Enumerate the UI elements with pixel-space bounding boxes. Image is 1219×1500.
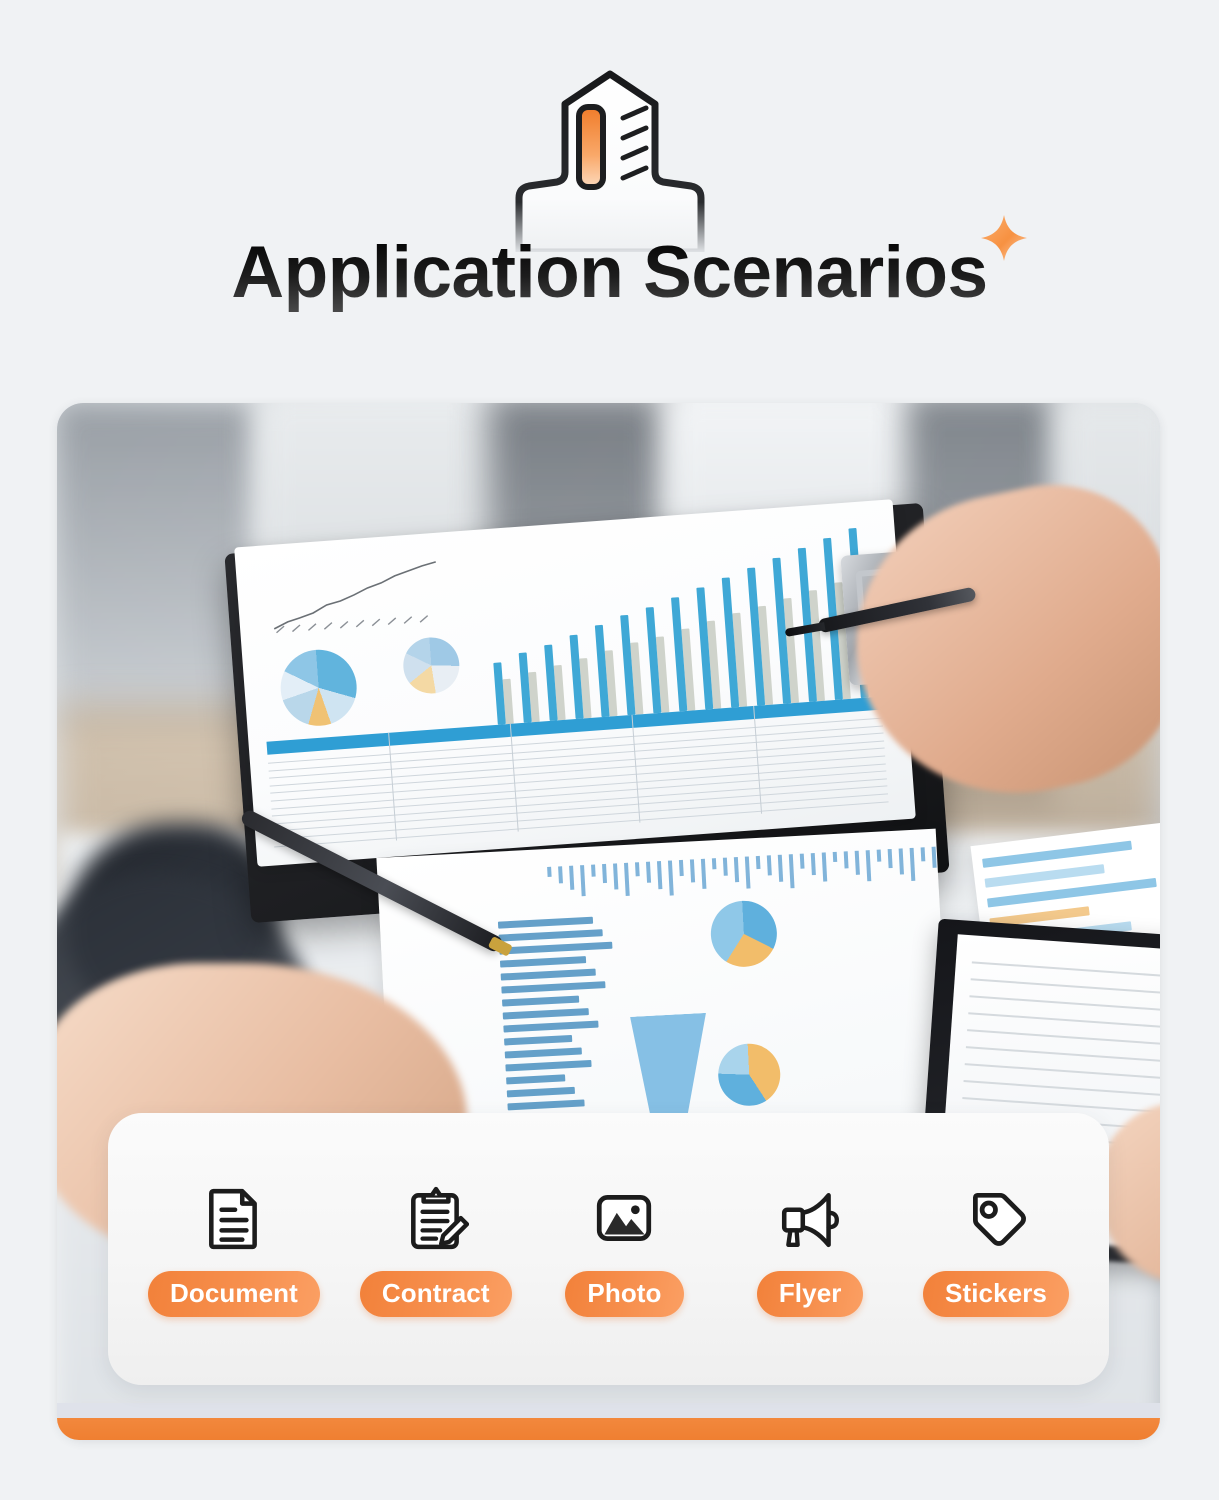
price-tag-icon [959,1181,1033,1255]
page-title-row: Application Scenarios [0,236,1219,309]
application-scenarios-page: Application Scenarios [0,0,1219,1500]
image-icon [587,1181,661,1255]
scenario-item-photo[interactable]: Photo [552,1181,698,1317]
report-sheet [234,499,916,866]
document-icon [197,1181,271,1255]
scenario-label-stickers[interactable]: Stickers [923,1271,1069,1317]
page-header: Application Scenarios [0,0,1219,380]
scenario-label-document[interactable]: Document [148,1271,320,1317]
office-building-icon [495,62,725,252]
scenario-label-contract[interactable]: Contract [360,1271,512,1317]
scenario-label-photo[interactable]: Photo [565,1271,683,1317]
scenario-item-contract[interactable]: Contract [360,1181,512,1317]
sparkle-star-icon [978,212,1030,264]
scenario-photo-card: Document [57,403,1160,1440]
scenario-label-flyer[interactable]: Flyer [757,1271,864,1317]
scenario-badge-row: Document [108,1113,1109,1385]
page-title: Application Scenarios [231,232,987,313]
scenario-badge-panel: Document [108,1113,1109,1385]
clipboard-pen-icon [399,1181,473,1255]
scenario-item-flyer[interactable]: Flyer [737,1181,883,1317]
scenario-item-stickers[interactable]: Stickers [923,1181,1069,1317]
scenario-item-document[interactable]: Document [148,1181,320,1317]
megaphone-icon [773,1181,847,1255]
